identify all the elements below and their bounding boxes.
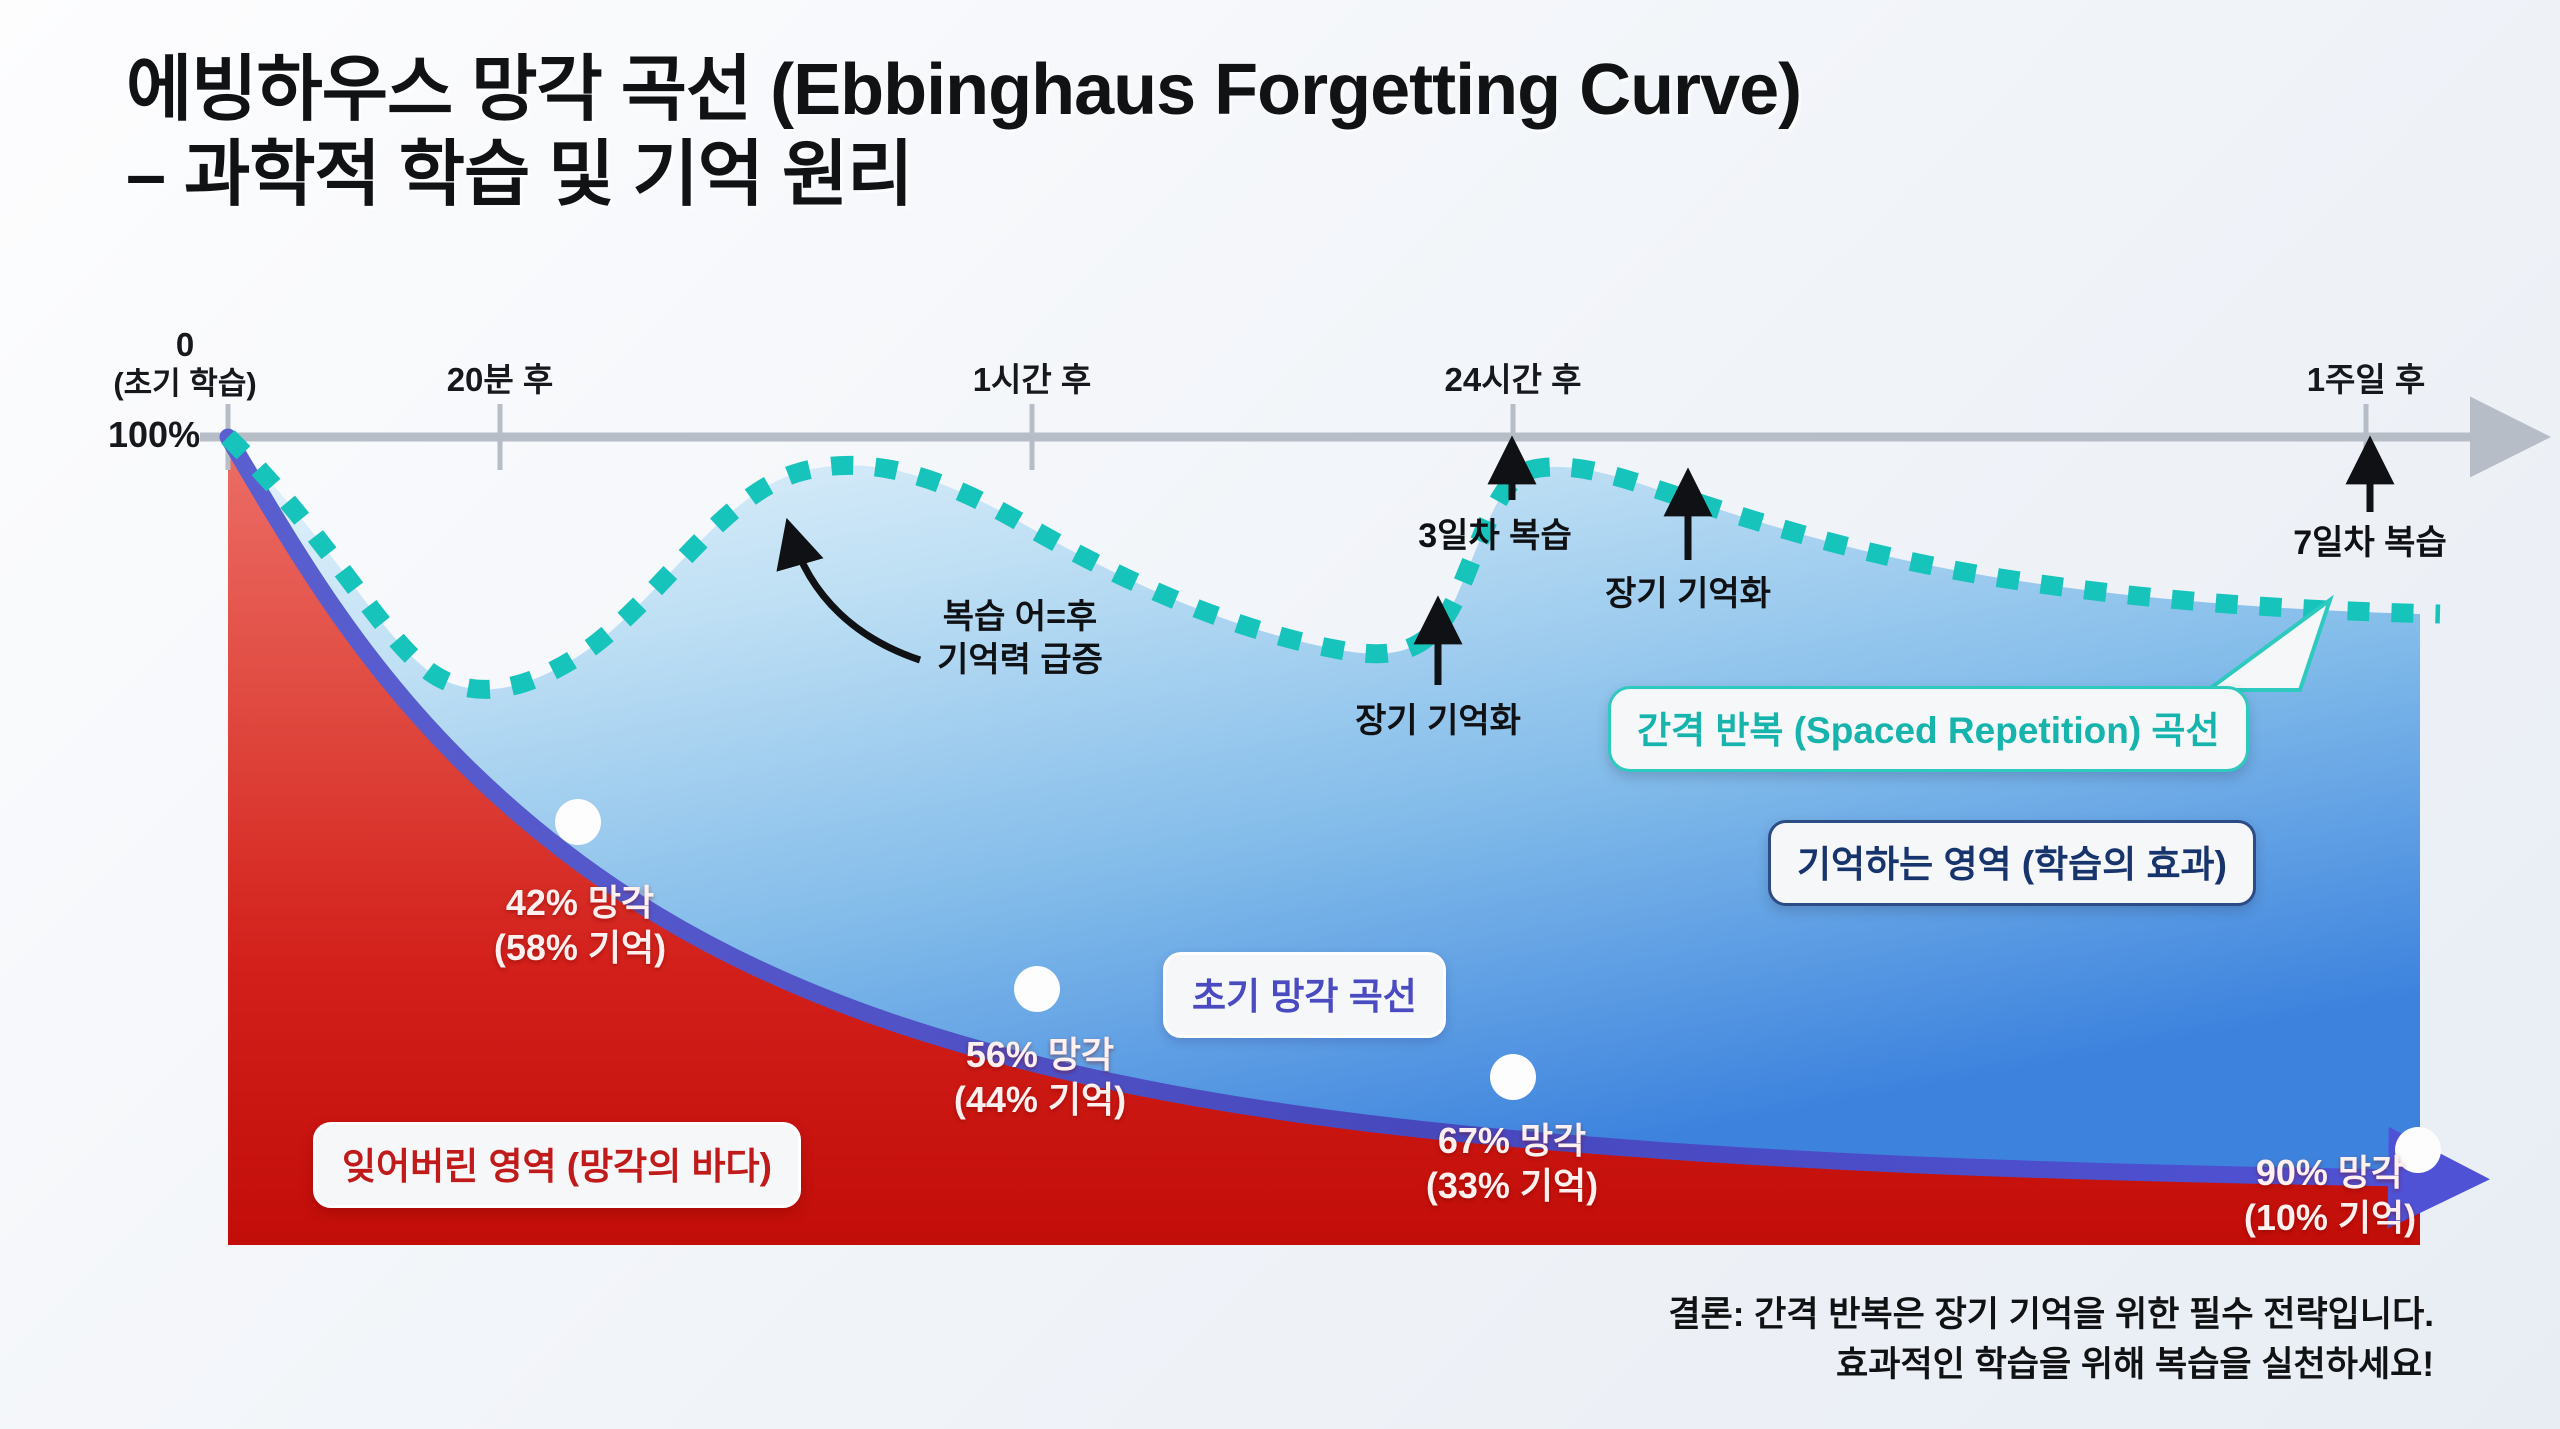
point-label-20min: 42% 망각 (58% 기억) <box>494 880 666 970</box>
annotation-review-boost-line1: 복습 어=후 <box>943 598 1097 636</box>
axis-tick-2: 1시간 후 <box>973 360 1092 400</box>
axis-tick-0-sublabel: (초기 학습) <box>113 365 256 403</box>
axis-tick-0: 0 (초기 학습) <box>113 325 256 403</box>
legend-initial-curve-badge[interactable]: 초기 망각 곡선 <box>1163 952 1446 1038</box>
annotation-review-boost: 복습 어=후 기억력 급증 <box>937 596 1103 681</box>
conclusion-line-2: 효과적인 학습을 위해 복습을 실천하세요! <box>1668 1340 2434 1390</box>
axis-tick-2-label: 1시간 후 <box>973 361 1092 398</box>
conclusion-text: 결론: 간격 반복은 장기 기억을 위한 필수 전략입니다. 효과적인 학습을 … <box>1668 1290 2434 1389</box>
point-label-24hour-line2: (33% 기억) <box>1426 1165 1598 1206</box>
axis-tick-3: 24시간 후 <box>1445 360 1582 400</box>
axis-tick-1-label: 20분 후 <box>447 361 554 398</box>
annotation-day3-review: 3일차 복습 <box>1418 515 1571 558</box>
point-label-24hour: 67% 망각 (33% 기억) <box>1426 1118 1598 1208</box>
point-label-1week: 90% 망각 (10% 기억) <box>2244 1150 2416 1240</box>
point-label-20min-line1: 42% 망각 <box>506 882 654 923</box>
y-axis-label: 100% <box>108 414 200 456</box>
annotation-long-term-memory-2: 장기 기억화 <box>1605 573 1771 616</box>
data-point-dot <box>1014 966 1060 1012</box>
axis-tick-3-label: 24시간 후 <box>1445 361 1582 398</box>
annotation-long-term-memory-1-label: 장기 기억화 <box>1355 702 1521 740</box>
legend-forgotten-area-label: 잊어버린 영역 (망각의 바다) <box>342 1136 772 1190</box>
point-label-20min-line2: (58% 기억) <box>494 927 666 968</box>
data-point-dot <box>555 799 601 845</box>
legend-remembered-area-badge[interactable]: 기억하는 영역 (학습의 효과) <box>1768 820 2256 906</box>
legend-remembered-area-label: 기억하는 영역 (학습의 효과) <box>1797 834 2227 888</box>
annotation-long-term-memory-1: 장기 기억화 <box>1355 700 1521 743</box>
annotation-long-term-memory-2-label: 장기 기억화 <box>1605 575 1771 613</box>
point-label-1week-line1: 90% 망각 <box>2256 1152 2404 1193</box>
point-label-1hour: 56% 망각 (44% 기억) <box>954 1032 1126 1122</box>
conclusion-line-1: 결론: 간격 반복은 장기 기억을 위한 필수 전략입니다. <box>1668 1290 2434 1340</box>
legend-forgotten-area-badge[interactable]: 잊어버린 영역 (망각의 바다) <box>313 1122 801 1208</box>
axis-tick-4: 1주일 후 <box>2307 360 2426 400</box>
point-label-24hour-line1: 67% 망각 <box>1438 1120 1586 1161</box>
legend-spaced-repetition-badge[interactable]: 간격 반복 (Spaced Repetition) 곡선 <box>1608 686 2249 772</box>
axis-tick-4-label: 1주일 후 <box>2307 361 2426 398</box>
point-label-1week-line2: (10% 기억) <box>2244 1197 2416 1238</box>
point-label-1hour-line1: 56% 망각 <box>966 1034 1114 1075</box>
annotation-review-boost-line2: 기억력 급증 <box>937 641 1103 679</box>
legend-spaced-repetition-label: 간격 반복 (Spaced Repetition) 곡선 <box>1637 700 2220 754</box>
annotation-day3-review-label: 3일차 복습 <box>1418 517 1571 555</box>
data-point-dot <box>1490 1054 1536 1100</box>
axis-tick-0-label: 0 <box>176 326 194 363</box>
legend-initial-curve-label: 초기 망각 곡선 <box>1192 966 1417 1020</box>
annotation-day7-review: 7일차 복습 <box>2293 522 2446 565</box>
annotation-day7-review-label: 7일차 복습 <box>2293 524 2446 562</box>
axis-tick-1: 20분 후 <box>447 360 554 400</box>
point-label-1hour-line2: (44% 기억) <box>954 1079 1126 1120</box>
